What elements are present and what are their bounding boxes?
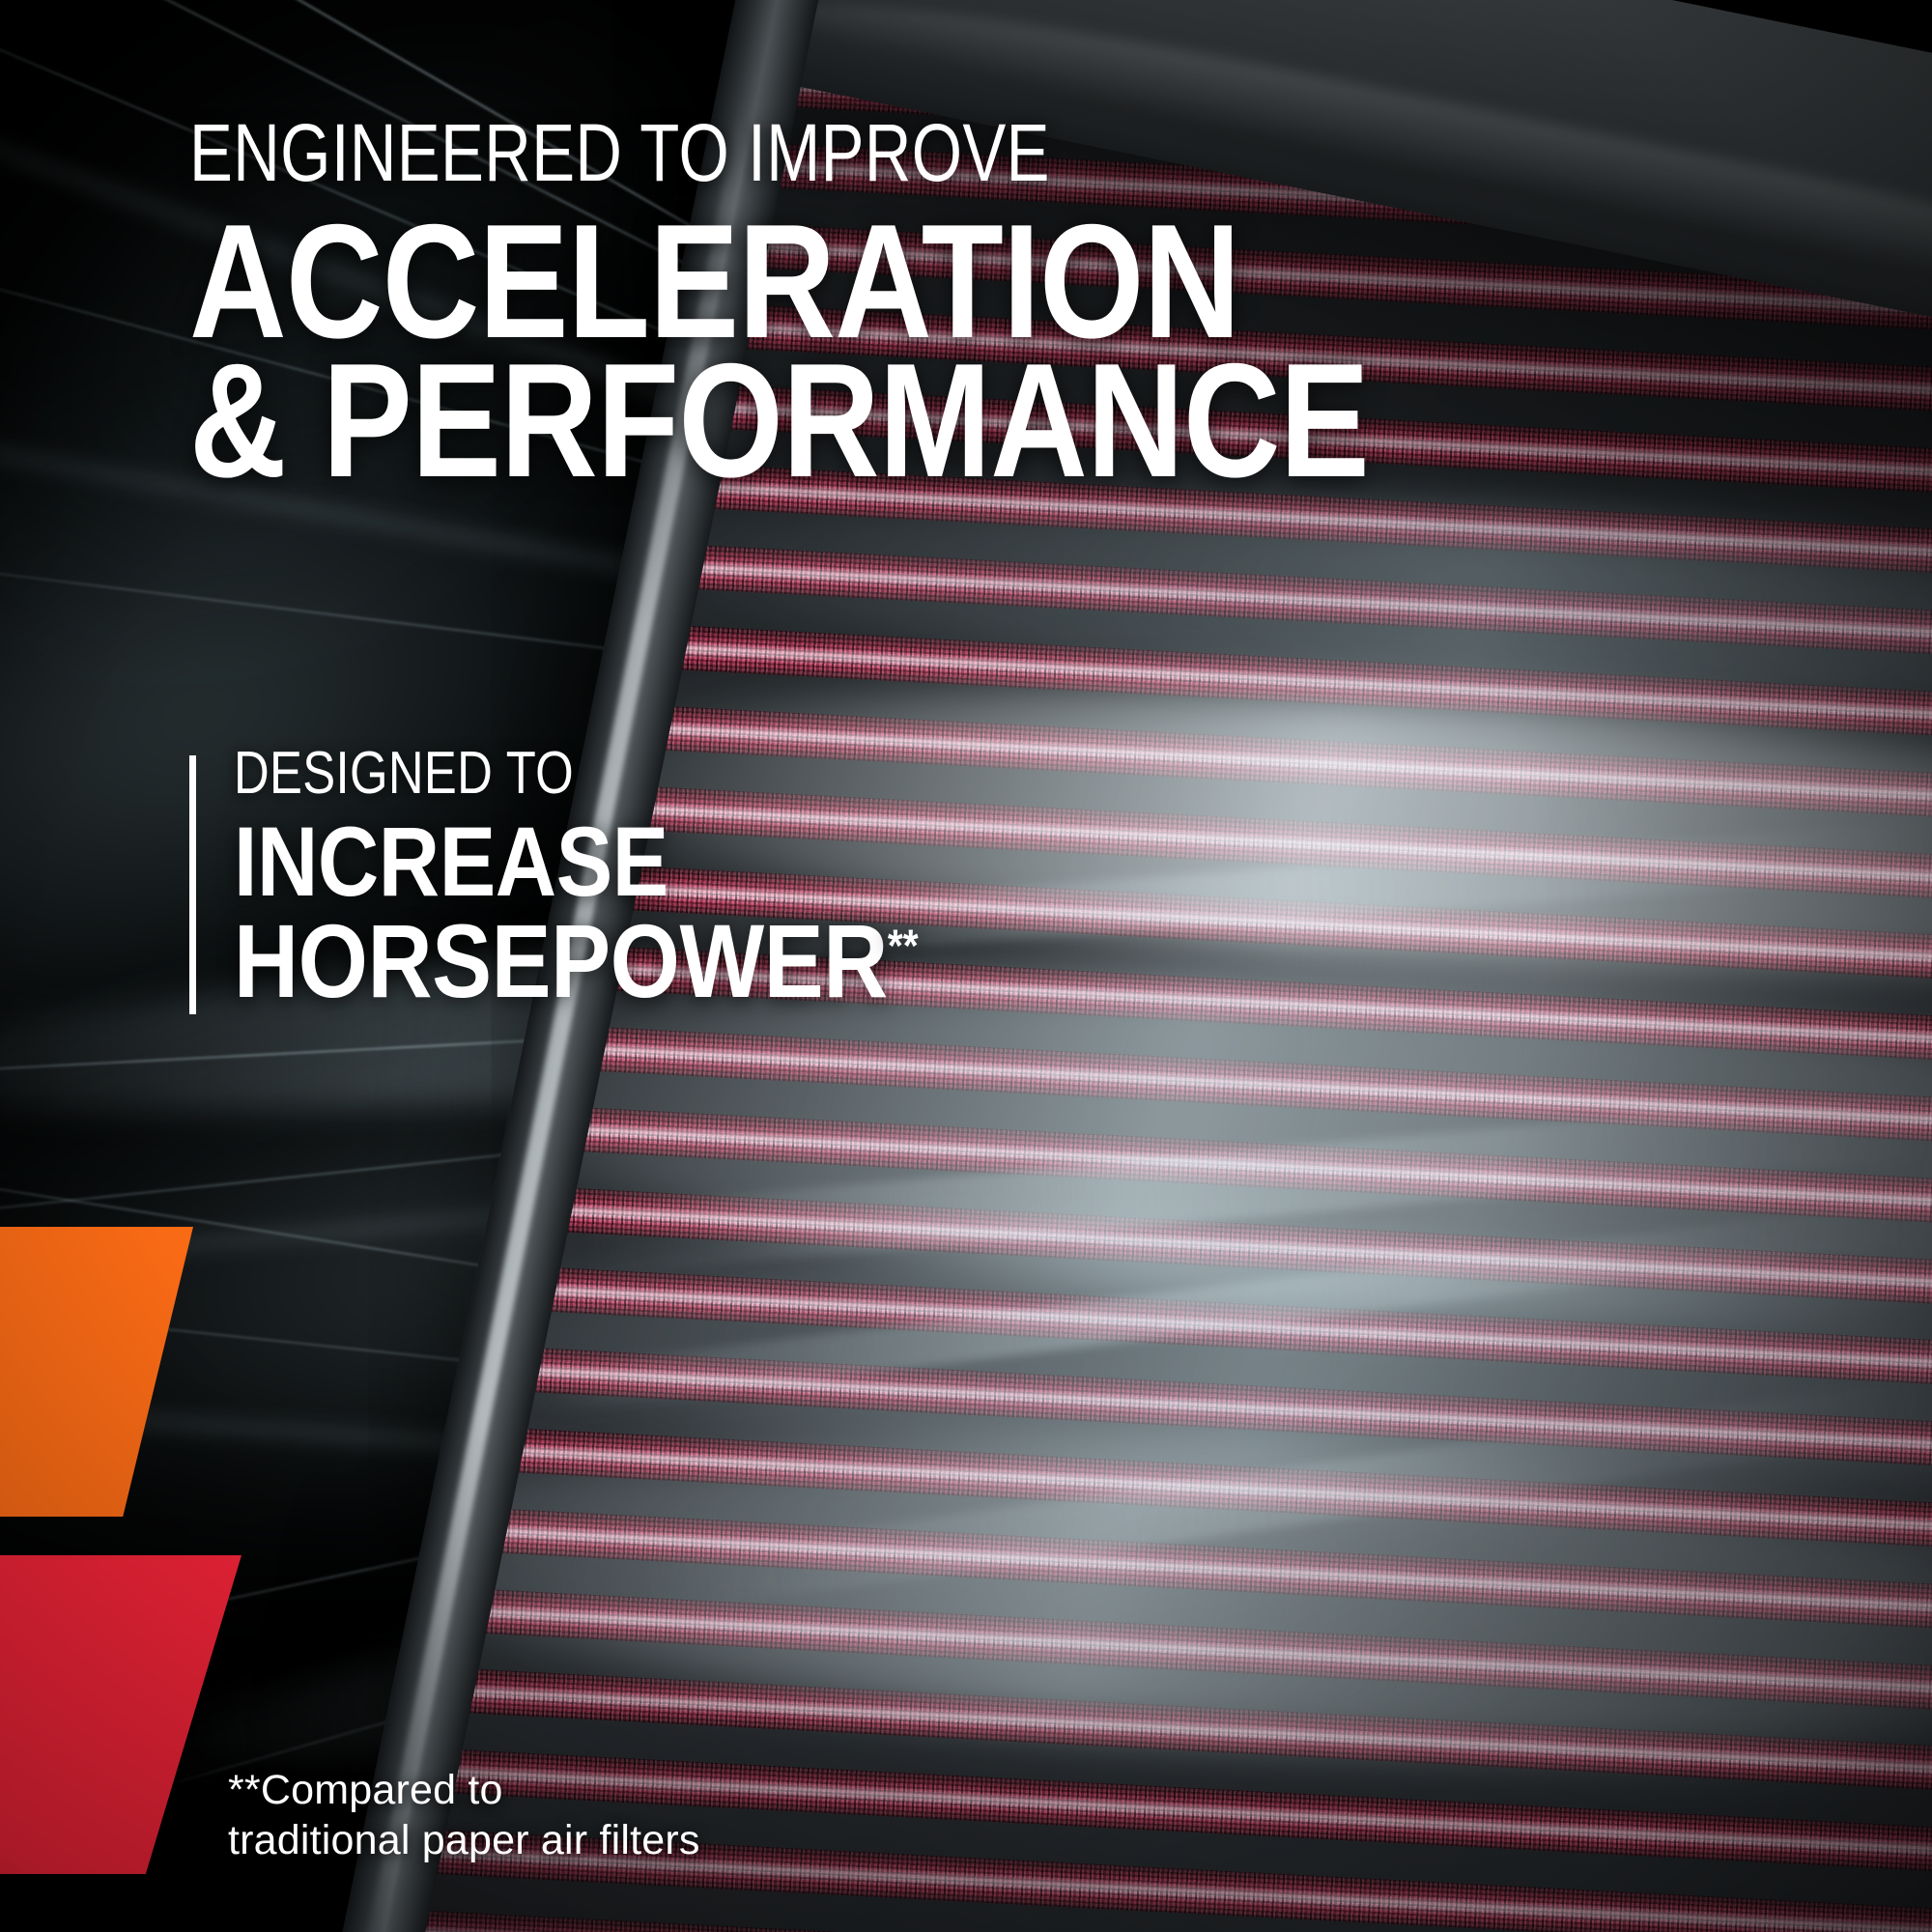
footnote-line-2: traditional paper air filters bbox=[228, 1816, 846, 1866]
subhead-superscript: ** bbox=[888, 921, 919, 972]
footnote-line-1: **Compared to bbox=[228, 1766, 846, 1816]
vertical-accent-bar bbox=[189, 755, 196, 1014]
subhead-line-2-text: HORSEPOWER bbox=[234, 902, 888, 1019]
marketing-banner: ENGINEERED TO IMPROVE ACCELERATION & PER… bbox=[0, 0, 1932, 1932]
subhead-line-1: INCREASE bbox=[234, 811, 1192, 912]
headline-block: ENGINEERED TO IMPROVE ACCELERATION & PER… bbox=[189, 116, 1889, 498]
subhead-eyebrow: DESIGNED TO bbox=[234, 744, 1148, 804]
footnote: **Compared to traditional paper air filt… bbox=[228, 1766, 846, 1865]
headline-eyebrow: ENGINEERED TO IMPROVE bbox=[189, 116, 1549, 190]
subhead-line-2: HORSEPOWER** bbox=[234, 908, 1192, 1014]
subhead-block: DESIGNED TO INCREASE HORSEPOWER** bbox=[189, 744, 1349, 1014]
headline-line-2: & PERFORMANCE bbox=[189, 343, 1601, 498]
